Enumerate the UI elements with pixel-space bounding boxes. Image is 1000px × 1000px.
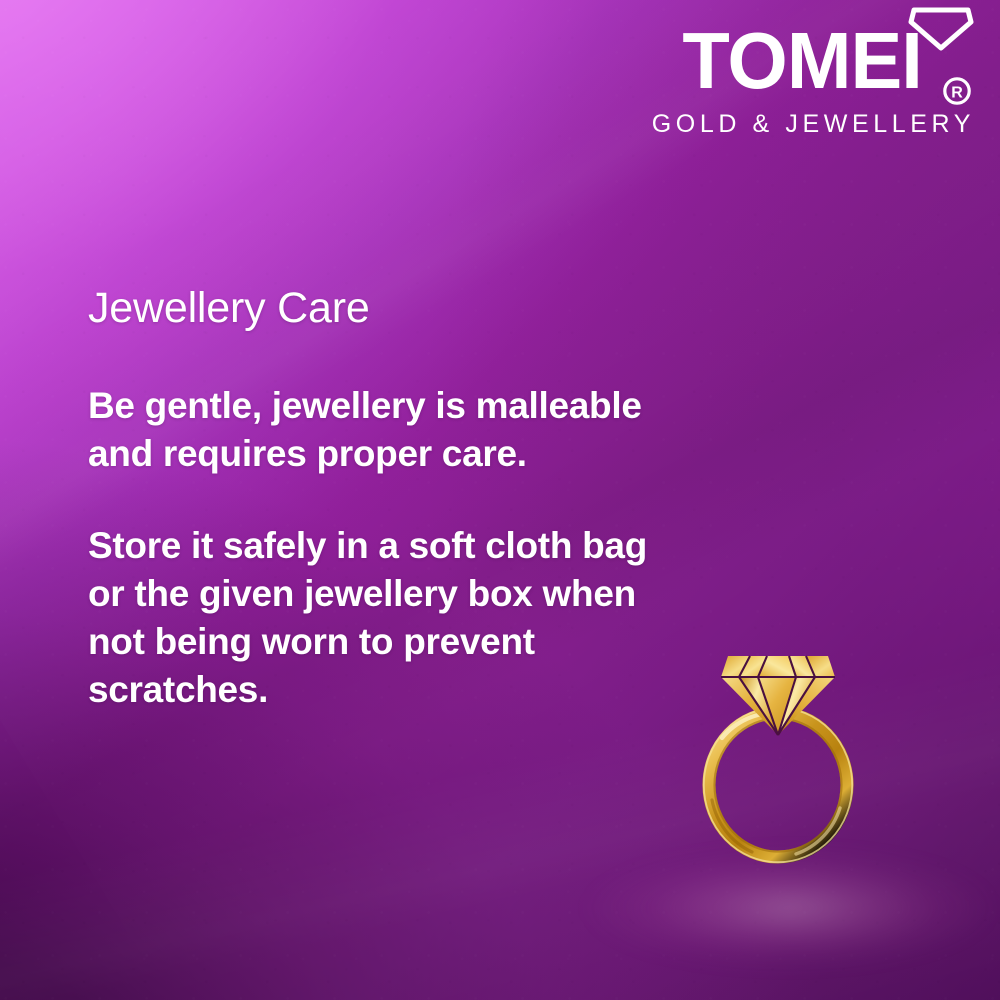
svg-text:R: R [951, 84, 963, 101]
logo-mark-row: TOMEI R [638, 6, 978, 106]
copy-block: Jewellery Care Be gentle, jewellery is m… [88, 286, 663, 714]
diamond-ring-illustration [700, 640, 870, 910]
page-title: Jewellery Care [88, 286, 663, 332]
care-paragraph-two: Store it safely in a soft cloth bag or t… [88, 522, 663, 714]
brand-tagline: GOLD & JEWELLERY [652, 112, 975, 137]
care-paragraph-one: Be gentle, jewellery is malleable and re… [88, 382, 663, 478]
ring-graphic [700, 640, 870, 910]
brand-logo: TOMEI R GOLD & JEWELLERY [638, 6, 978, 106]
registered-trademark-icon: R [942, 76, 972, 106]
brand-wordmark: TOMEI [683, 27, 922, 94]
poster-canvas: TOMEI R GOLD & JEWELLERY Jewellery Care … [0, 0, 1000, 1000]
